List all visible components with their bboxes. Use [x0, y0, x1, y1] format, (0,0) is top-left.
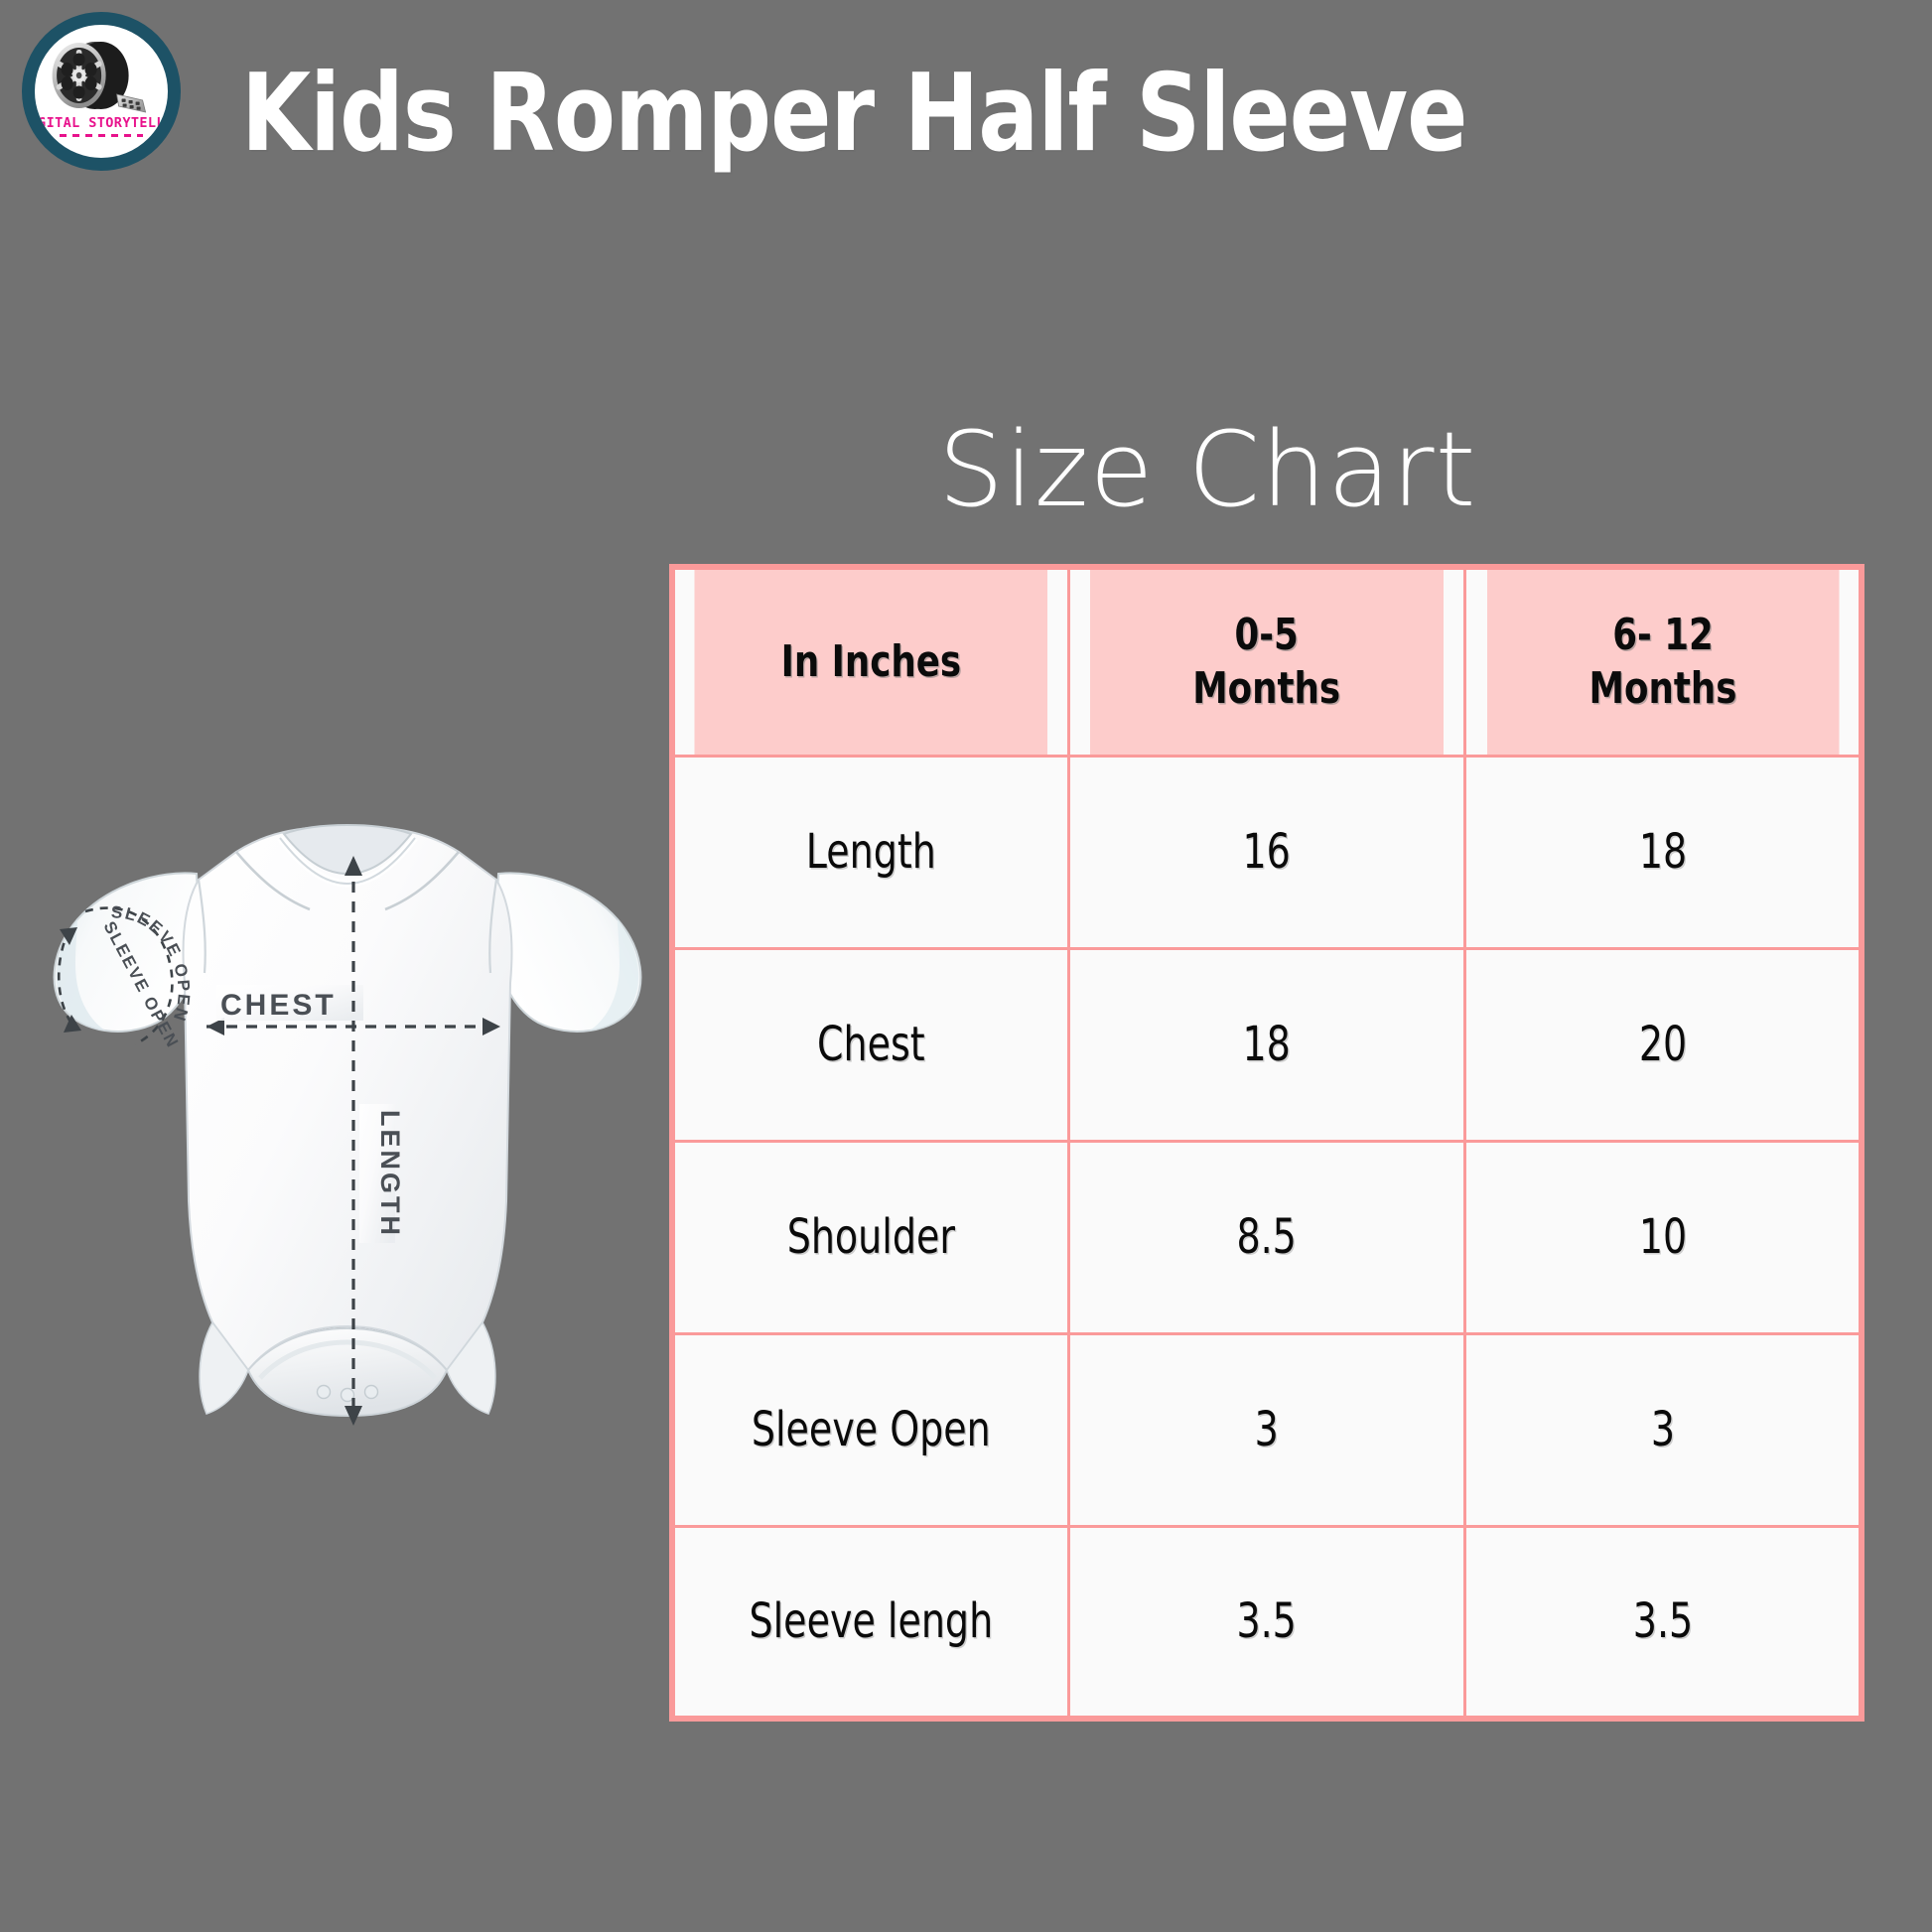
- header-size-2-unit: Months: [1486, 662, 1839, 716]
- cell-shoulder-6-12: 10: [1489, 1141, 1838, 1333]
- cell-shoulder-0-5: 8.5: [1092, 1141, 1441, 1333]
- cell-length-0-5: 16: [1092, 756, 1441, 948]
- table-body: Length 16 18 Chest 18 20 Shoulder 8.5 10…: [672, 756, 1862, 1719]
- logo-dashed-underline: [60, 134, 143, 137]
- header-cell-size-1: 0-5 Months: [1088, 567, 1445, 756]
- cell-sleeve-length-0-5: 3.5: [1092, 1526, 1441, 1719]
- cell-sleeve-length-6-12: 3.5: [1489, 1526, 1838, 1719]
- header-unit-label: In Inches: [695, 635, 1047, 689]
- table-row: Sleeve lengh 3.5 3.5: [672, 1526, 1862, 1719]
- page-title: Kids Romper Half Sleeve: [241, 52, 1466, 176]
- film-reel-icon: [35, 37, 168, 114]
- header-cell-unit: In Inches: [692, 567, 1048, 756]
- row-label-length: Length: [696, 756, 1044, 948]
- table-row: Chest 18 20: [672, 948, 1862, 1141]
- size-chart-heading: Size Chart: [938, 409, 1476, 530]
- size-chart-page: DIGITAL STORYTELLER Kids Romper Half Sle…: [0, 0, 1932, 1932]
- header-size-2-range: 6- 12: [1486, 609, 1839, 662]
- header-cell-size-2: 6- 12 Months: [1485, 567, 1842, 756]
- cell-length-6-12: 18: [1489, 756, 1838, 948]
- header-size-1-unit: Months: [1090, 662, 1445, 716]
- cell-sleeve-open-0-5: 3: [1092, 1333, 1441, 1526]
- row-label-chest: Chest: [696, 948, 1044, 1141]
- cell-sleeve-open-6-12: 3: [1489, 1333, 1838, 1526]
- table-row: Length 16 18: [672, 756, 1862, 948]
- row-label-sleeve-length: Sleeve lengh: [696, 1526, 1044, 1719]
- table-row: Shoulder 8.5 10: [672, 1141, 1862, 1333]
- row-label-shoulder: Shoulder: [696, 1141, 1044, 1333]
- baby-romper-illustration: CHEST LENGTH SLEEVE OPEN SLEEVE OPEN: [30, 735, 665, 1549]
- chest-label: CHEST: [220, 989, 337, 1022]
- row-label-sleeve-open: Sleeve Open: [696, 1333, 1044, 1526]
- cell-chest-6-12: 20: [1489, 948, 1838, 1141]
- header-size-1-range: 0-5: [1090, 609, 1445, 662]
- table-row: Sleeve Open 3 3: [672, 1333, 1862, 1526]
- cell-chest-0-5: 18: [1092, 948, 1441, 1141]
- logo-brand-text: DIGITAL STORYTELLER: [22, 115, 181, 131]
- length-label: LENGTH: [375, 1110, 405, 1238]
- table-header: In Inches 0-5 Months 6- 12 Months: [672, 567, 1862, 756]
- size-chart-table: In Inches 0-5 Months 6- 12 Months Length…: [669, 564, 1864, 1722]
- digital-storyteller-logo: DIGITAL STORYTELLER: [22, 12, 181, 171]
- table-header-row: In Inches 0-5 Months 6- 12 Months: [672, 567, 1862, 756]
